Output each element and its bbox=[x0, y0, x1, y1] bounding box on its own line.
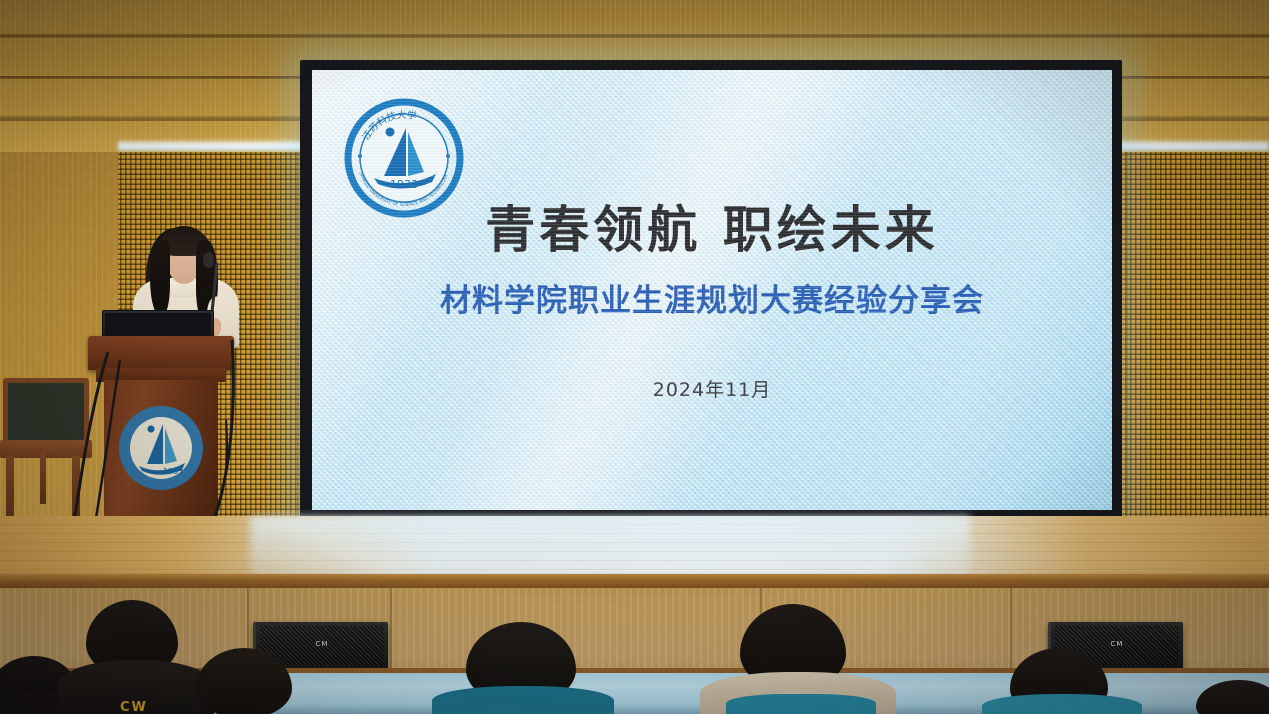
screen-scanlines bbox=[312, 70, 1112, 510]
wall-slat bbox=[0, 34, 1269, 37]
audience-shirt bbox=[726, 694, 876, 714]
led-screen[interactable]: 1933 江苏科技大学 JIANGSU UNIVERSITY OF SCIENC… bbox=[312, 70, 1112, 510]
audience-body bbox=[982, 694, 1142, 714]
loudspeaker-brand-label: CM bbox=[1111, 640, 1124, 648]
microphone-icon bbox=[203, 252, 214, 268]
lecture-hall-photo: 1933 江苏科技大学 JIANGSU UNIVERSITY OF SCIENC… bbox=[0, 0, 1269, 714]
panel-seam bbox=[1010, 588, 1012, 670]
loudspeaker-brand-label: CM bbox=[316, 640, 329, 648]
audience-body bbox=[432, 686, 614, 714]
stage-floor-screen-reflection bbox=[250, 516, 970, 578]
panel-seam bbox=[390, 588, 392, 670]
wall-panel-seam bbox=[1126, 152, 1128, 520]
audience-jacket-text: CW bbox=[120, 700, 148, 714]
